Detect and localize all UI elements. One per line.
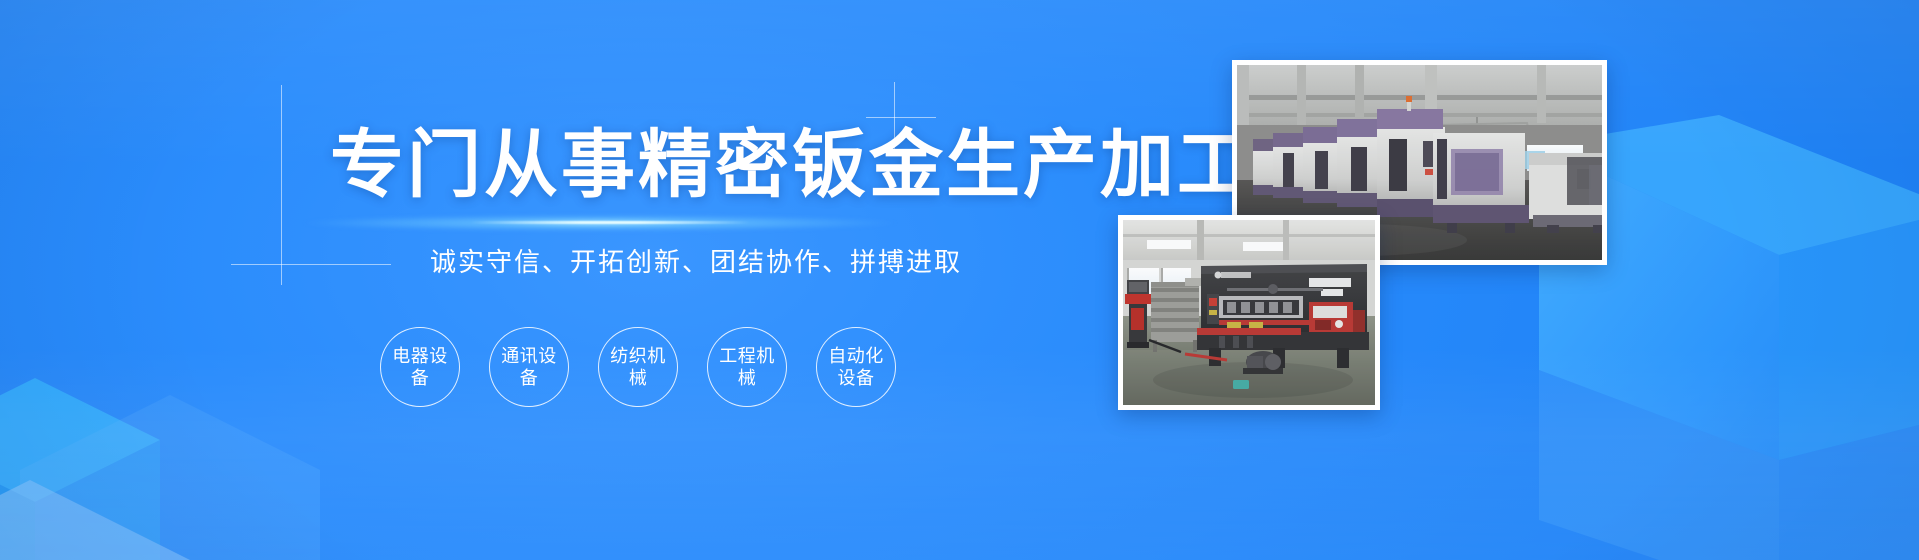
headline-glow-core — [470, 221, 750, 224]
category-badge-communication-equipment[interactable]: 通讯设 备 — [489, 327, 569, 407]
badge-label-line2: 备 — [392, 367, 448, 389]
badge-label-line1: 电器设 — [392, 345, 448, 367]
banner-content: 专门从事精密钣金生产加工 诚实守信、开拓创新、团结协作、拼搏进取 电器设 备 通… — [0, 0, 1100, 560]
badge-label-line2: 备 — [501, 367, 557, 389]
badge-label-line2: 设备 — [828, 367, 884, 389]
hero-banner: 专门从事精密钣金生产加工 诚实守信、开拓创新、团结协作、拼搏进取 电器设 备 通… — [0, 0, 1919, 560]
photo-amada-turret-punch-press — [1118, 215, 1380, 410]
badge-label-line1: 通讯设 — [501, 345, 557, 367]
badge-label-line1: 自动化 — [828, 345, 884, 367]
banner-subtitle: 诚实守信、开拓创新、团结协作、拼搏进取 — [430, 249, 962, 275]
badge-label-line2: 械 — [719, 367, 775, 389]
badge-label-line2: 械 — [610, 367, 666, 389]
category-badge-automation-equipment[interactable]: 自动化 设备 — [816, 327, 896, 407]
banner-headline: 专门从事精密钣金生产加工 — [330, 128, 1254, 202]
badge-label-line1: 纺织机 — [610, 345, 666, 367]
category-badge-electrical-equipment[interactable]: 电器设 备 — [380, 327, 460, 407]
photo-amada-turret-punch-press-image — [1123, 220, 1375, 405]
category-badge-list: 电器设 备 通讯设 备 纺织机 械 工程机 械 — [380, 327, 896, 407]
badge-label-line1: 工程机 — [719, 345, 775, 367]
category-badge-textile-machinery[interactable]: 纺织机 械 — [598, 327, 678, 407]
category-badge-engineering-machinery[interactable]: 工程机 械 — [707, 327, 787, 407]
